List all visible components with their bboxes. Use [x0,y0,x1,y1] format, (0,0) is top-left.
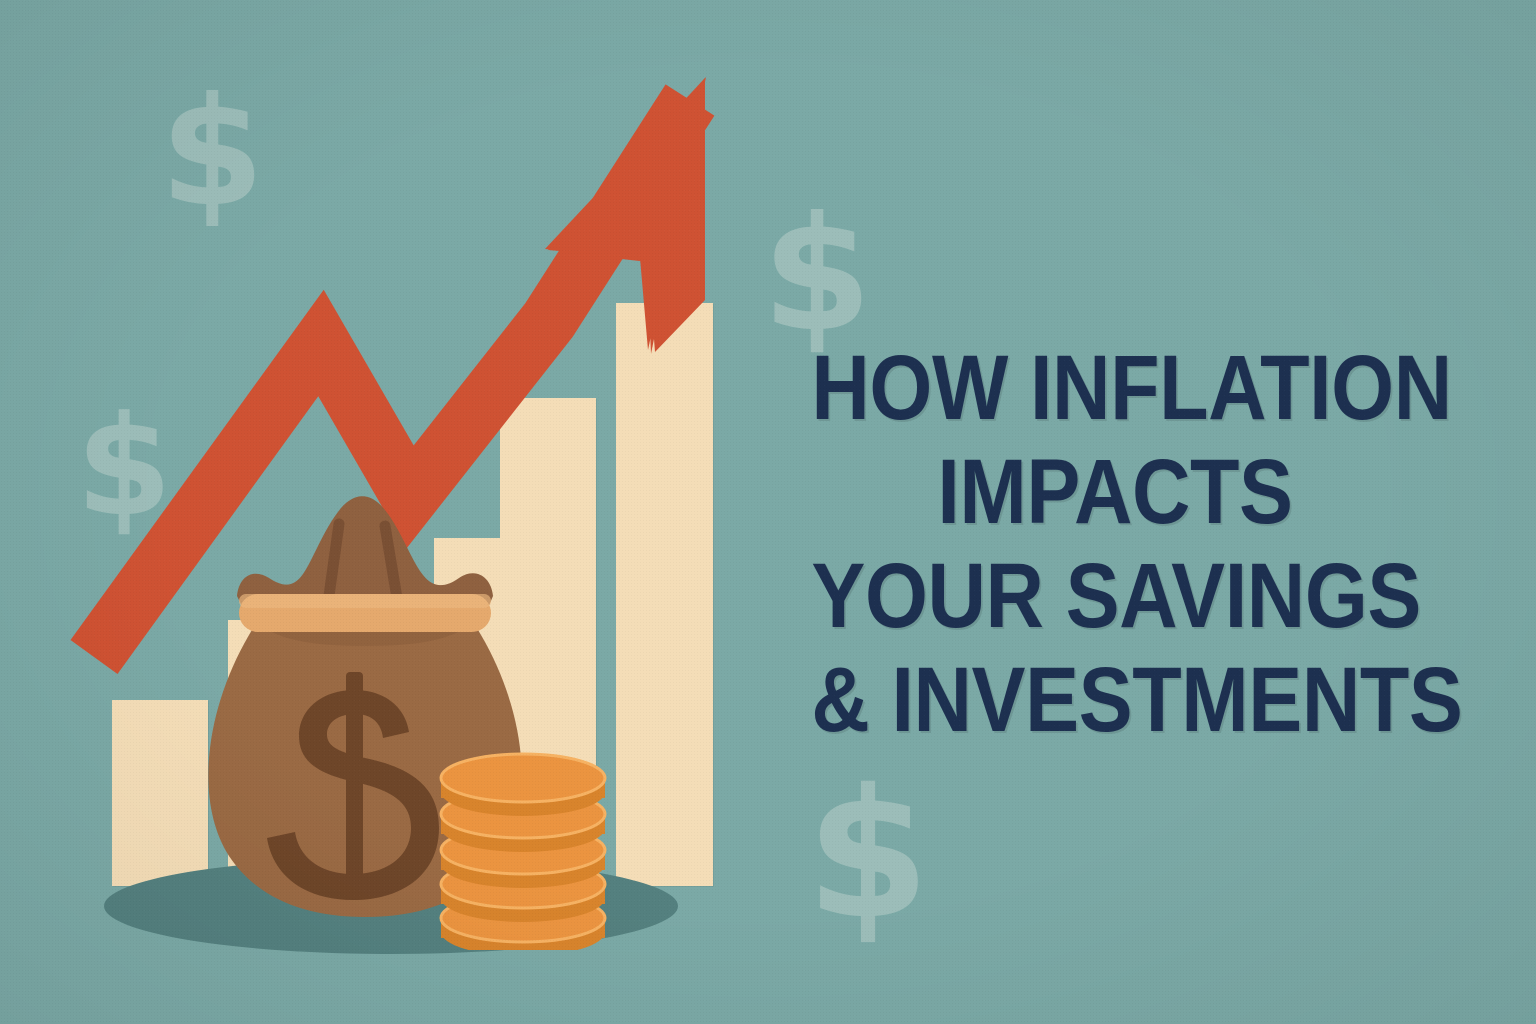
title-line-3: YOUR SAVINGS [811,544,1418,648]
title-line-4: & INVESTMENTS [811,648,1418,752]
dollar-watermark-mid-left: $ [76,398,172,536]
bar-chart-bar-5 [616,303,713,886]
poster-canvas: $ $ $ $ [0,0,1536,1024]
title-line-2: IMPACTS [811,440,1418,544]
bar-chart-bar-1 [112,700,208,886]
dollar-watermark-top-left: $ [160,78,264,228]
title-line-1: HOW INFLATION [811,336,1418,440]
page-title: HOW INFLATION IMPACTS YOUR SAVINGS & INV… [770,336,1460,752]
dollar-watermark-bottom-right: $ [806,766,930,944]
coin-stack [428,750,618,950]
dollar-watermark-top-right: $ [762,196,872,354]
